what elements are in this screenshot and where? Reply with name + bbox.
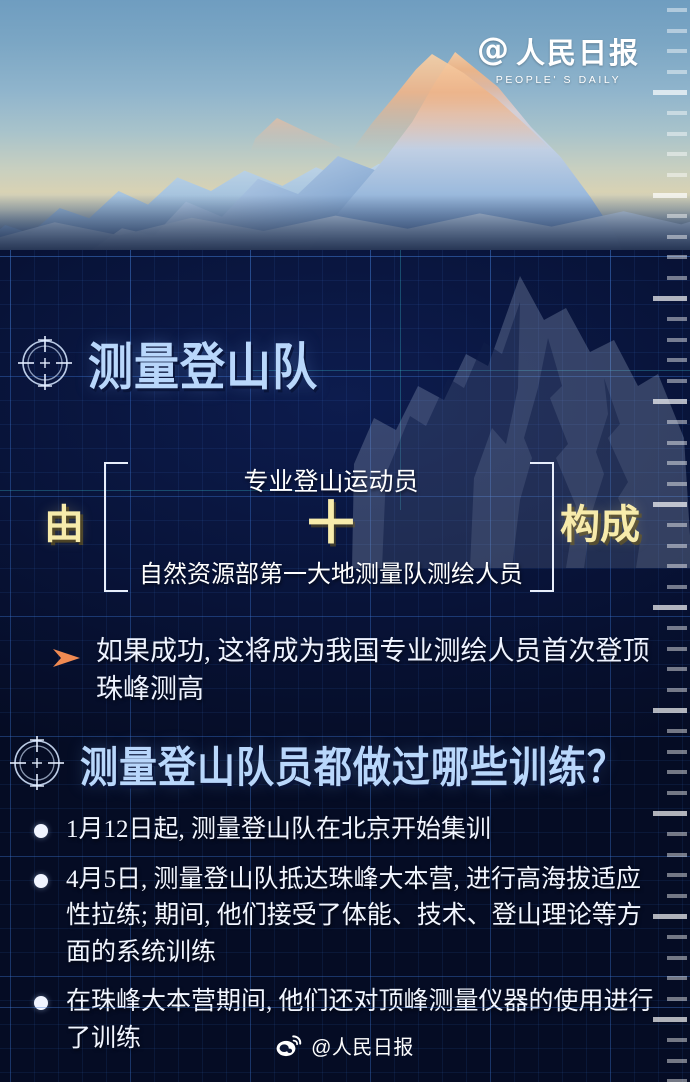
brand-logo: @ 人民日报 PEOPLE' S DAILY: [477, 30, 640, 86]
section-heading-2: 测量登山队员都做过哪些训练？: [6, 732, 626, 794]
at-sign-icon: @: [477, 33, 509, 65]
list-item-text: 1月12日起, 测量登山队在北京开始集训: [66, 812, 491, 849]
ruler-tick: [667, 853, 687, 857]
highlight-note: 如果成功, 这将成为我国专业测绘人员首次登顶珠峰测高: [52, 632, 652, 709]
section-heading-1-label: 测量登山队: [88, 326, 318, 399]
ruler-tick: [653, 399, 687, 404]
ruler-tick: [667, 770, 687, 774]
measurement-ruler: [650, 0, 690, 1082]
ruler-tick: [667, 276, 687, 280]
crosshair-icon: [6, 732, 68, 794]
ruler-tick: [667, 564, 687, 568]
ruler-tick: [667, 29, 687, 33]
ruler-tick: [667, 688, 687, 692]
brand-name-cn: 人民日报: [516, 30, 640, 72]
ruler-tick: [667, 317, 687, 321]
ruler-tick: [667, 173, 687, 177]
ruler-tick: [667, 791, 687, 795]
crosshair-icon: [14, 332, 76, 394]
list-item: 1月12日起, 测量登山队在北京开始集训: [34, 812, 654, 849]
footer-divider: [0, 1007, 690, 1008]
formula-suffix: 构成: [560, 492, 640, 550]
ruler-tick: [667, 544, 687, 548]
formula-prefix: 由: [44, 492, 84, 550]
ruler-tick: [667, 647, 687, 651]
ruler-tick: [667, 956, 687, 960]
section-heading-1: 测量登山队: [14, 330, 318, 395]
bracket-left: [104, 462, 128, 592]
ruler-tick: [653, 296, 687, 301]
ruler-tick: [667, 894, 687, 898]
ruler-tick: [667, 976, 687, 980]
ruler-tick: [667, 70, 687, 74]
highlight-note-text: 如果成功, 这将成为我国专业测绘人员首次登顶珠峰测高: [96, 632, 652, 709]
ruler-tick: [667, 358, 687, 362]
ruler-tick: [667, 626, 687, 630]
ruler-tick: [667, 1038, 687, 1042]
ruler-tick: [653, 90, 687, 95]
list-item-text: 4月5日, 测量登山队抵达珠峰大本营, 进行高海拔适应性拉练; 期间, 他们接受…: [66, 862, 654, 972]
brand-name-en: PEOPLE' S DAILY: [477, 74, 640, 86]
ruler-tick: [667, 441, 687, 445]
plus-icon: ＋: [126, 500, 536, 548]
ruler-tick: [667, 873, 687, 877]
ruler-tick: [653, 811, 687, 816]
weibo-icon: [276, 1035, 302, 1057]
section-heading-2-label: 测量登山队员都做过哪些训练？: [80, 732, 626, 794]
ruler-tick: [667, 111, 687, 115]
ruler-tick: [667, 750, 687, 754]
ruler-tick: [667, 152, 687, 156]
list-item: 4月5日, 测量登山队抵达珠峰大本营, 进行高海拔适应性拉练; 期间, 他们接受…: [34, 862, 654, 972]
bullet-dot-icon: [34, 824, 48, 838]
ruler-tick: [667, 214, 687, 218]
ruler-tick: [667, 667, 687, 671]
ruler-tick: [667, 379, 687, 383]
footer: @人民日报: [0, 1031, 690, 1060]
bracket-right: [530, 462, 554, 592]
ruler-tick: [653, 605, 687, 610]
brand-logo-row: @ 人民日报: [477, 30, 640, 72]
ruler-tick: [667, 997, 687, 1001]
ruler-tick: [667, 255, 687, 259]
ruler-tick: [667, 8, 687, 12]
ruler-tick: [667, 1059, 687, 1063]
ruler-tick: [653, 502, 687, 507]
composition-formula: 由 专业登山运动员 ＋ 自然资源部第一大地测量队测绘人员 构成: [0, 450, 690, 600]
ruler-tick: [667, 338, 687, 342]
ruler-tick: [653, 708, 687, 713]
ruler-tick: [653, 1017, 687, 1022]
arrow-right-icon: [52, 646, 82, 670]
ruler-tick: [653, 914, 687, 919]
ruler-tick: [667, 49, 687, 53]
ruler-tick: [667, 729, 687, 733]
footer-handle: @人民日报: [311, 1031, 414, 1060]
bullet-dot-icon: [34, 874, 48, 888]
formula-item-bottom: 自然资源部第一大地测量队测绘人员: [126, 554, 536, 589]
ruler-tick: [667, 235, 687, 239]
ruler-tick: [667, 132, 687, 136]
infographic-poster: @ 人民日报 PEOPLE' S DAILY 测量登山队 由 专业登山运动员 ＋…: [0, 0, 690, 1082]
ruler-tick: [667, 420, 687, 424]
ruler-tick: [653, 193, 687, 198]
ruler-tick: [667, 482, 687, 486]
ruler-tick: [667, 461, 687, 465]
ruler-tick: [667, 523, 687, 527]
ruler-tick: [667, 585, 687, 589]
ruler-tick: [667, 935, 687, 939]
ruler-tick: [667, 832, 687, 836]
